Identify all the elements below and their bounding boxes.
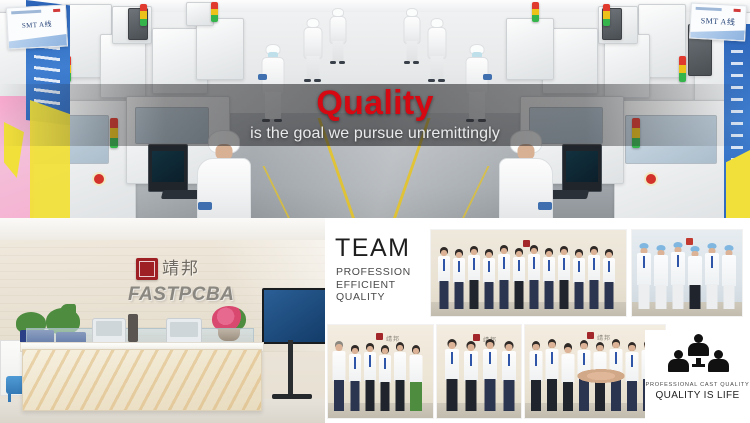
display-stand — [288, 340, 293, 396]
person — [393, 342, 406, 411]
lobby-ceiling — [0, 218, 325, 240]
wall-seal — [686, 238, 693, 245]
person — [561, 343, 575, 411]
wall-seal — [587, 332, 594, 339]
machine-monitor — [148, 144, 188, 192]
person — [452, 249, 465, 309]
person — [482, 249, 495, 309]
shoe — [339, 61, 345, 64]
person — [463, 341, 478, 411]
emergency-stop-button — [644, 172, 658, 186]
hero-headline: Quality — [0, 86, 750, 120]
team-photo-hands-together: 靖邦 — [525, 325, 665, 418]
worker-legs — [407, 41, 418, 62]
smt-line-sign-right-text: SMT A线 — [691, 15, 746, 29]
person — [704, 243, 719, 309]
shoe — [314, 79, 321, 82]
display-base — [272, 394, 312, 399]
reception-lobby-photo: 靖邦 FASTPCBA — [0, 218, 325, 423]
shoe — [404, 61, 410, 64]
person — [467, 246, 480, 309]
hero-subline: is the goal we pursue unremittingly — [0, 126, 750, 142]
person — [545, 339, 559, 411]
team-value-quality: QUALITY — [336, 291, 411, 304]
team-value-profession: PROFESSION — [336, 266, 411, 279]
person — [602, 249, 615, 309]
person — [497, 245, 510, 309]
glove — [258, 74, 267, 80]
andon-tower-light — [603, 4, 610, 26]
andon-tower-light — [679, 56, 686, 82]
factory-worker — [428, 18, 446, 82]
reception-monitor — [92, 318, 126, 344]
three-people-group-icon — [667, 334, 729, 378]
person — [557, 246, 570, 309]
team-photo-office-team: 靖邦 — [328, 325, 433, 418]
wall-seal — [376, 333, 383, 340]
shoe — [330, 61, 336, 64]
lobby-display-screen — [262, 288, 325, 344]
smt-machine — [186, 2, 214, 26]
person — [437, 247, 450, 309]
team-photo-cleanroom-staff — [632, 230, 742, 316]
glove — [538, 202, 552, 210]
shoe — [428, 79, 435, 82]
person — [670, 242, 685, 309]
person — [482, 339, 497, 411]
company-brand-name: FASTPCBA — [128, 284, 234, 306]
smt-machine — [196, 18, 244, 80]
team-photo-sales-team: 靖邦 — [437, 325, 521, 418]
person — [636, 243, 651, 309]
company-chinese-name: 靖邦 — [162, 258, 200, 280]
factory-worker — [330, 8, 346, 64]
worker-legs — [431, 56, 444, 79]
person — [348, 345, 361, 411]
person — [501, 341, 516, 411]
person — [542, 248, 555, 309]
person — [527, 245, 540, 309]
shoe — [438, 79, 445, 82]
team-value-efficient: EFFICIENT — [336, 279, 411, 292]
joined-hands — [577, 369, 625, 383]
person — [378, 345, 391, 411]
cleanroom-suit — [428, 27, 447, 59]
cleanroom-suit — [404, 16, 421, 44]
person — [363, 343, 376, 411]
machine-monitor — [562, 144, 602, 192]
glove — [198, 202, 212, 210]
desk-lamp — [128, 314, 138, 342]
smt-line-sign-left: SMT A线 — [6, 4, 68, 49]
person — [653, 245, 668, 309]
person — [687, 246, 702, 309]
badge-tagline: PROFESSIONAL CAST QUALITY — [645, 382, 750, 388]
reception-monitor — [166, 318, 202, 345]
company-showcase-banner: SMT A线 SMT A线 Quality is the goal we pur… — [0, 0, 750, 423]
smt-line-sign-right: SMT A线 — [689, 3, 747, 42]
andon-tower-light — [532, 2, 539, 22]
shoe — [304, 79, 311, 82]
worker-legs — [333, 41, 344, 62]
andon-tower-light — [140, 4, 147, 26]
smt-line-sign-left-text: SMT A线 — [8, 18, 66, 31]
emergency-stop-button — [92, 172, 106, 186]
smt-machine — [506, 18, 554, 80]
quality-badge: PROFESSIONAL CAST QUALITY QUALITY IS LIF… — [645, 330, 750, 423]
person — [408, 345, 423, 411]
person — [721, 245, 736, 309]
person — [529, 341, 543, 411]
reception-desk — [22, 349, 262, 411]
person — [444, 339, 459, 411]
glove — [483, 74, 492, 80]
team-photo-large-group — [431, 230, 626, 316]
cleanroom-suit — [304, 27, 323, 59]
cleanroom-suit — [330, 16, 347, 44]
andon-tower-light — [211, 2, 218, 22]
team-values: PROFESSION EFFICIENT QUALITY — [336, 266, 411, 304]
team-title: TEAM — [335, 236, 410, 261]
person — [572, 249, 585, 309]
person — [332, 341, 346, 411]
person — [512, 248, 525, 309]
person — [625, 342, 639, 411]
company-seal-logo — [136, 258, 158, 280]
badge-slogan: QUALITY IS LIFE — [645, 390, 750, 401]
shoe — [413, 61, 419, 64]
factory-worker — [304, 18, 322, 82]
worker-legs — [307, 56, 320, 79]
person — [587, 246, 600, 309]
factory-production-line-photo: SMT A线 SMT A线 Quality is the goal we pur… — [0, 0, 750, 218]
factory-worker — [404, 8, 420, 64]
